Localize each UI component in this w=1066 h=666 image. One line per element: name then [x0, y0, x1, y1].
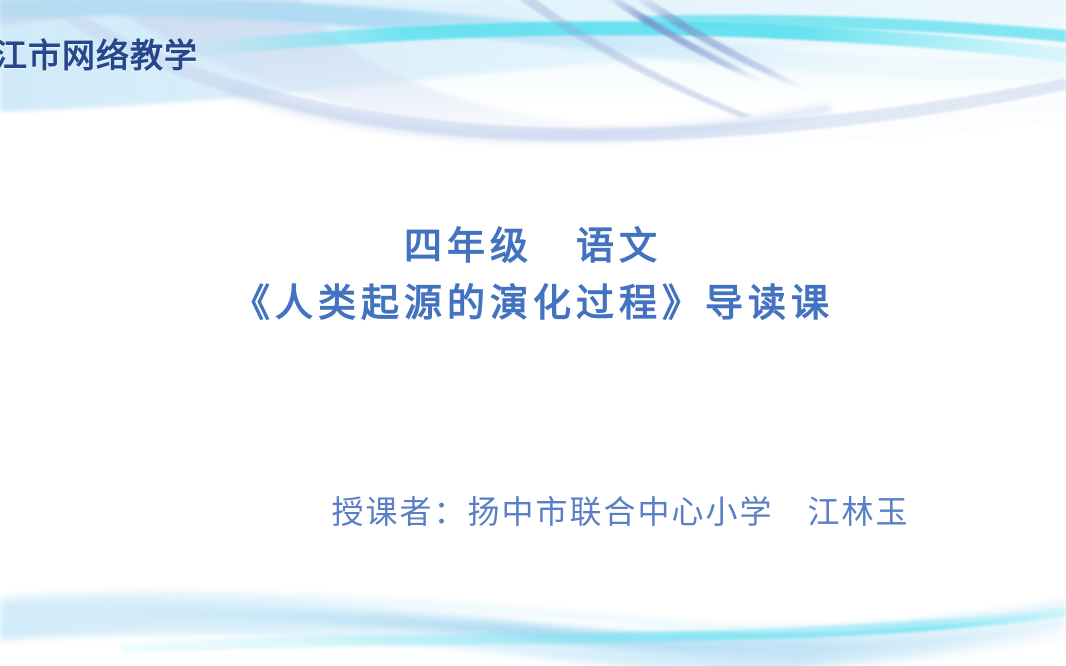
bottom-wave-decoration	[0, 0, 1066, 666]
banner-title: 江市网络教学	[0, 36, 198, 76]
presenter-credit: 授课者：扬中市联合中心小学 江林玉	[0, 491, 1066, 533]
page-title-grade-subject: 四年级 语文	[0, 222, 1066, 272]
page-title-lesson: 《人类起源的演化过程》导读课	[0, 279, 1066, 329]
slide-canvas: 江市网络教学 四年级 语文 《人类起源的演化过程》导读课 授课者：扬中市联合中心…	[0, 0, 1066, 666]
top-wave-decoration	[0, 0, 1066, 666]
title-block: 四年级 语文 《人类起源的演化过程》导读课	[0, 222, 1066, 329]
